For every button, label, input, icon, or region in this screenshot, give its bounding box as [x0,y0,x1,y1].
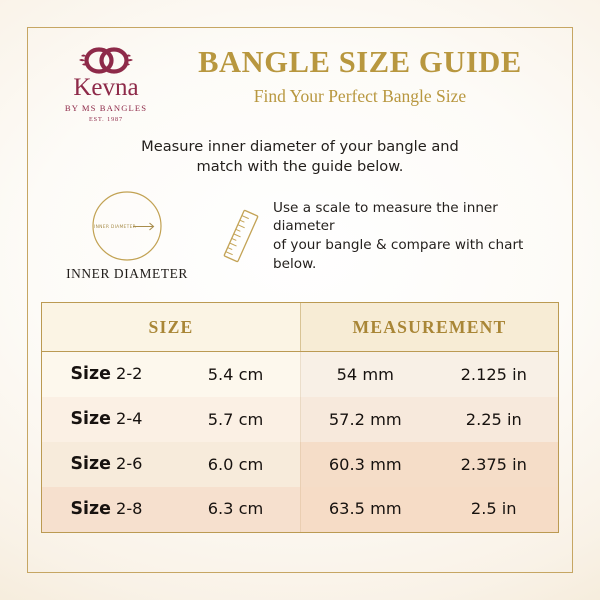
cell-size-value: 2-4 [116,409,142,428]
size-guide-content: Kevna BY MS BANGLES EST. 1987 BANGLE SIZ… [27,27,573,573]
cell-inch: 2.25 in [430,398,559,441]
measure-instruction-line1: Measure inner diameter of your bangle an… [79,137,521,157]
bangle-circle-icon: INNER DIAMETER [85,190,169,262]
cell-mm: 63.5 mm [301,487,430,530]
cell-inch: 2.5 in [430,487,559,530]
table-header-measurement: MEASUREMENT [300,303,558,351]
cell-cm: 6.0 cm [171,443,300,486]
scale-note: Use a scale to measure the inner diamete… [269,199,553,274]
cell-size: Size 2-8 [42,487,171,532]
table-row: Size 2-4 5.7 cm 57.2 mm 2.25 in [42,397,558,442]
cell-size: Size 2-2 [42,352,171,397]
page-subtitle: Find Your Perfect Bangle Size [169,87,551,106]
inner-diameter-diagram: INNER DIAMETER INNER DIAMETER [41,190,213,282]
brand-logo: Kevna BY MS BANGLES EST. 1987 [43,41,169,123]
scale-note-line2: of your bangle & compare with chart belo… [273,236,553,274]
cell-size: Size 2-4 [42,397,171,442]
cell-size: Size 2-6 [42,442,171,487]
interlocking-bangles-icon [43,46,169,76]
cell-size-word: Size [70,409,110,429]
cell-mm: 60.3 mm [301,443,430,486]
diagram-band: INNER DIAMETER INNER DIAMETER [27,190,573,282]
table-header-size: SIZE [42,303,300,351]
cell-size-word: Size [70,364,110,384]
table-row: Size 2-2 5.4 cm 54 mm 2.125 in [42,352,558,397]
table-row: Size 2-8 6.3 cm 63.5 mm 2.5 in [42,487,558,532]
cell-mm: 57.2 mm [301,398,430,441]
cell-inch: 2.125 in [430,353,559,396]
brand-tagline: BY MS BANGLES [43,103,169,113]
brand-name: Kevna [43,75,169,100]
cell-cm: 5.7 cm [171,398,300,441]
cell-size-value: 2-8 [116,499,142,518]
cell-cm: 6.3 cm [171,487,300,530]
cell-size-value: 2-6 [116,454,142,473]
cell-cm: 5.4 cm [171,353,300,396]
inner-diameter-caption: INNER DIAMETER [41,266,213,282]
cell-inch: 2.375 in [430,443,559,486]
size-chart-table: SIZE MEASUREMENT Size 2-2 5.4 cm 54 mm 2… [41,302,559,533]
cell-size-value: 2-2 [116,364,142,383]
table-header-row: SIZE MEASUREMENT [42,303,558,352]
brand-established: EST. 1987 [43,116,169,123]
measure-instruction: Measure inner diameter of your bangle an… [27,137,573,176]
scale-note-line1: Use a scale to measure the inner diamete… [273,199,553,237]
inner-diameter-inline-label: INNER DIAMETER [94,224,136,230]
cell-size-word: Size [70,499,110,519]
title-block: BANGLE SIZE GUIDE Find Your Perfect Bang… [169,41,557,106]
page-title: BANGLE SIZE GUIDE [169,46,551,78]
table-row: Size 2-6 6.0 cm 60.3 mm 2.375 in [42,442,558,487]
ruler-icon [213,208,269,264]
header: Kevna BY MS BANGLES EST. 1987 BANGLE SIZ… [27,27,573,123]
measure-instruction-line2: match with the guide below. [79,157,521,177]
cell-mm: 54 mm [301,353,430,396]
cell-size-word: Size [70,454,110,474]
